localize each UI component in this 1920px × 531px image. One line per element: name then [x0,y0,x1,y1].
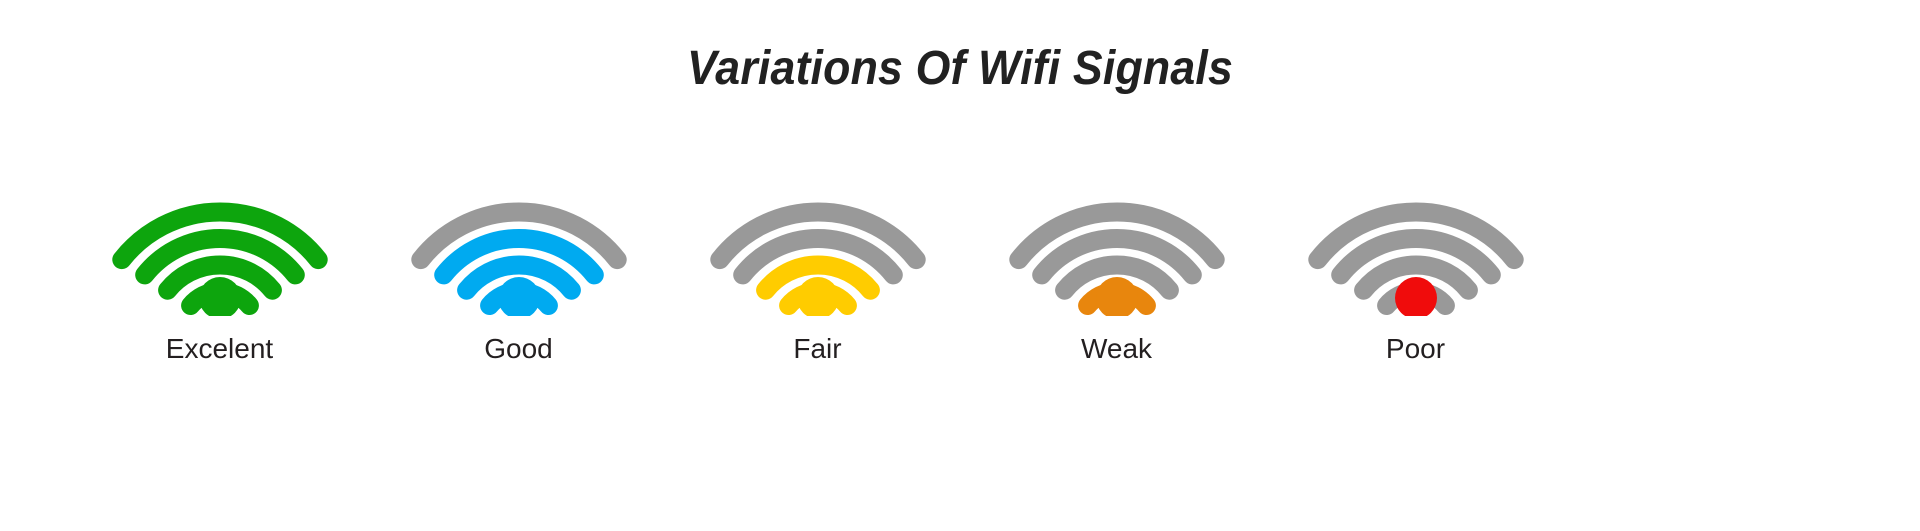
wifi-signal-infographic: Variations Of Wifi Signals Excelent [0,0,1920,531]
signal-item-weak[interactable]: Weak [967,150,1266,366]
wifi-icon-poor [1298,150,1534,316]
wifi-icon-weak [999,150,1235,316]
signal-item-fair[interactable]: Fair [668,150,967,366]
signal-label-good: Good [484,332,553,366]
signal-list: Excelent Good [0,150,1920,366]
wifi-icon-excelent [102,150,338,316]
signal-item-poor[interactable]: Poor [1266,150,1565,366]
signal-label-weak: Weak [1081,332,1152,366]
signal-label-poor: Poor [1386,332,1445,366]
wifi-dot-good [498,277,540,316]
wifi-dot-poor [1395,277,1437,316]
wifi-dot-weak [1096,277,1138,316]
wifi-dot-fair [797,277,839,316]
wifi-dot-excelent [199,277,241,316]
wifi-icon-fair [700,150,936,316]
wifi-icon-good [401,150,637,316]
signal-label-excelent: Excelent [166,332,273,366]
signal-item-excelent[interactable]: Excelent [70,150,369,366]
signal-item-good[interactable]: Good [369,150,668,366]
signal-label-fair: Fair [793,332,841,366]
page-title: Variations Of Wifi Signals [67,41,1853,96]
